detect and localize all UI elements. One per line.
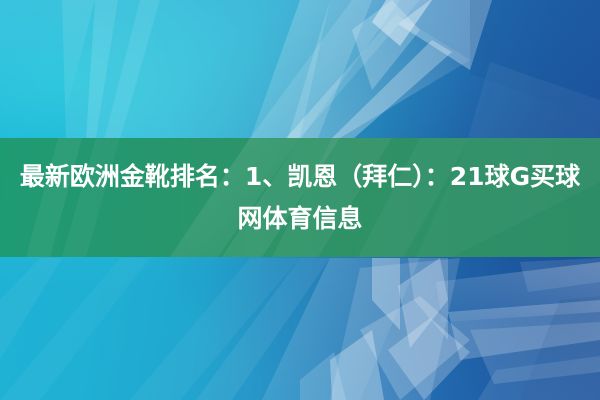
caption-band: 最新欧洲金靴排名：1、凯恩（拜仁）：21球G买球网体育信息 (0, 138, 600, 257)
sports-news-banner: 最新欧洲金靴排名：1、凯恩（拜仁）：21球G买球网体育信息 (0, 0, 600, 400)
caption-text: 最新欧洲金靴排名：1、凯恩（拜仁）：21球G买球网体育信息 (0, 138, 600, 257)
